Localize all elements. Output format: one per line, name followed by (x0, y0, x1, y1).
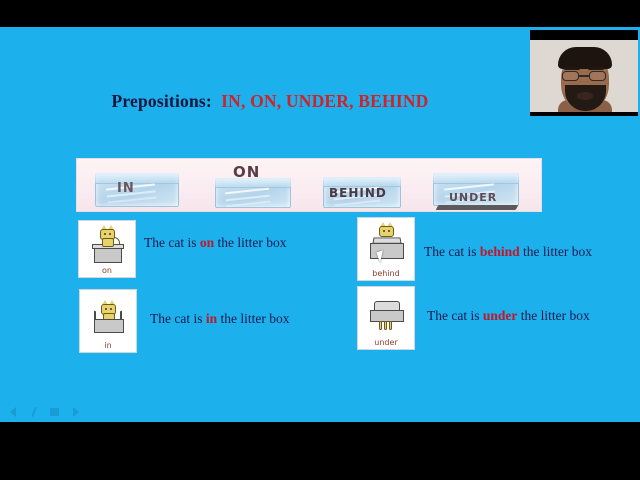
sentence-on: The cat is on the litter box (144, 235, 286, 251)
box-body (94, 319, 124, 333)
cat-eye-left-icon (383, 230, 385, 232)
preposition-in: in (206, 311, 217, 326)
sentence-prefix: The cat is (427, 308, 483, 323)
title-words: IN, ON, UNDER, BEHIND (221, 91, 428, 111)
cat-body-icon (102, 238, 114, 247)
example-card-under: under (357, 286, 415, 350)
webcam-hair (558, 47, 612, 69)
sentence-suffix: the litter box (217, 311, 289, 326)
webcam-eyebrow-left (564, 67, 580, 70)
sentence-prefix: The cat is (144, 235, 200, 250)
glasses-lens-right-icon (589, 71, 606, 81)
box-lid (95, 173, 179, 184)
glasses-lens-left-icon (562, 71, 579, 81)
box-shine (225, 187, 269, 194)
banner-word-behind: BEHIND (329, 186, 387, 200)
box-body (370, 243, 404, 259)
webcam-letterbox-top (530, 30, 638, 40)
banner-word-under: UNDER (449, 191, 497, 204)
banner-box-under-base (436, 205, 519, 210)
cat-eye-right-icon (109, 233, 111, 235)
example-card-in: in (79, 289, 137, 353)
page-title: Prepositions: IN, ON, UNDER, BEHIND (0, 91, 540, 112)
sentence-suffix: the litter box (520, 244, 592, 259)
preposition-behind: behind (480, 244, 520, 259)
cat-icon (101, 304, 116, 320)
example-card-behind: behind (357, 217, 415, 281)
cat-tail-icon (114, 237, 120, 245)
banner-word-on: ON (233, 163, 260, 181)
cat-eye-left-icon (105, 308, 107, 310)
cat-under-box-illustration (358, 290, 414, 334)
sentence-suffix: the litter box (214, 235, 286, 250)
previous-slide-button[interactable] (6, 405, 19, 418)
title-label: Prepositions: (111, 91, 211, 111)
preposition-under: under (483, 308, 518, 323)
card-label-on: on (79, 266, 135, 275)
slide-overview-button[interactable] (48, 405, 61, 418)
presentation-nav-controls[interactable] (6, 405, 82, 418)
sentence-under: The cat is under the litter box (427, 308, 590, 324)
sentence-suffix: the litter box (517, 308, 589, 323)
cat-on-box-illustration (79, 224, 135, 268)
preposition-on: on (200, 235, 214, 250)
cat-in-box-illustration (80, 293, 136, 337)
banner-box-in (95, 173, 179, 207)
sentence-prefix: The cat is (424, 244, 480, 259)
cat-eye-right-icon (388, 230, 390, 232)
sentence-behind: The cat is behind the litter box (424, 244, 592, 260)
next-slide-button[interactable] (69, 405, 82, 418)
card-label-under: under (358, 338, 414, 347)
box-shine (444, 183, 494, 190)
cat-icon (379, 226, 394, 238)
screen: Prepositions: IN, ON, UNDER, BEHIND IN O… (0, 0, 640, 480)
glasses-bridge-icon (579, 75, 589, 77)
sentence-prefix: The cat is (150, 311, 206, 326)
cat-eye-right-icon (110, 308, 112, 310)
cat-icon (100, 229, 115, 248)
cat-eye-left-icon (104, 233, 106, 235)
banner-box-on (215, 178, 291, 208)
pen-tool-button[interactable] (27, 405, 40, 418)
webcam-eyebrow-right (588, 67, 604, 70)
webcam-mouth (577, 92, 593, 100)
presenter-webcam[interactable] (528, 28, 640, 118)
box-body (94, 248, 122, 263)
card-label-in: in (80, 341, 136, 350)
cat-legs-icon (379, 321, 395, 330)
prepositions-banner-image: IN ON BEHIND UNDER (76, 158, 542, 212)
box-lid (433, 173, 519, 184)
example-card-on: on (78, 220, 136, 278)
card-label-behind: behind (358, 269, 414, 278)
banner-word-in: IN (117, 181, 135, 196)
webcam-letterbox-bottom (530, 112, 638, 116)
cat-head-icon (379, 226, 394, 237)
sentence-in: The cat is in the litter box (150, 311, 289, 327)
